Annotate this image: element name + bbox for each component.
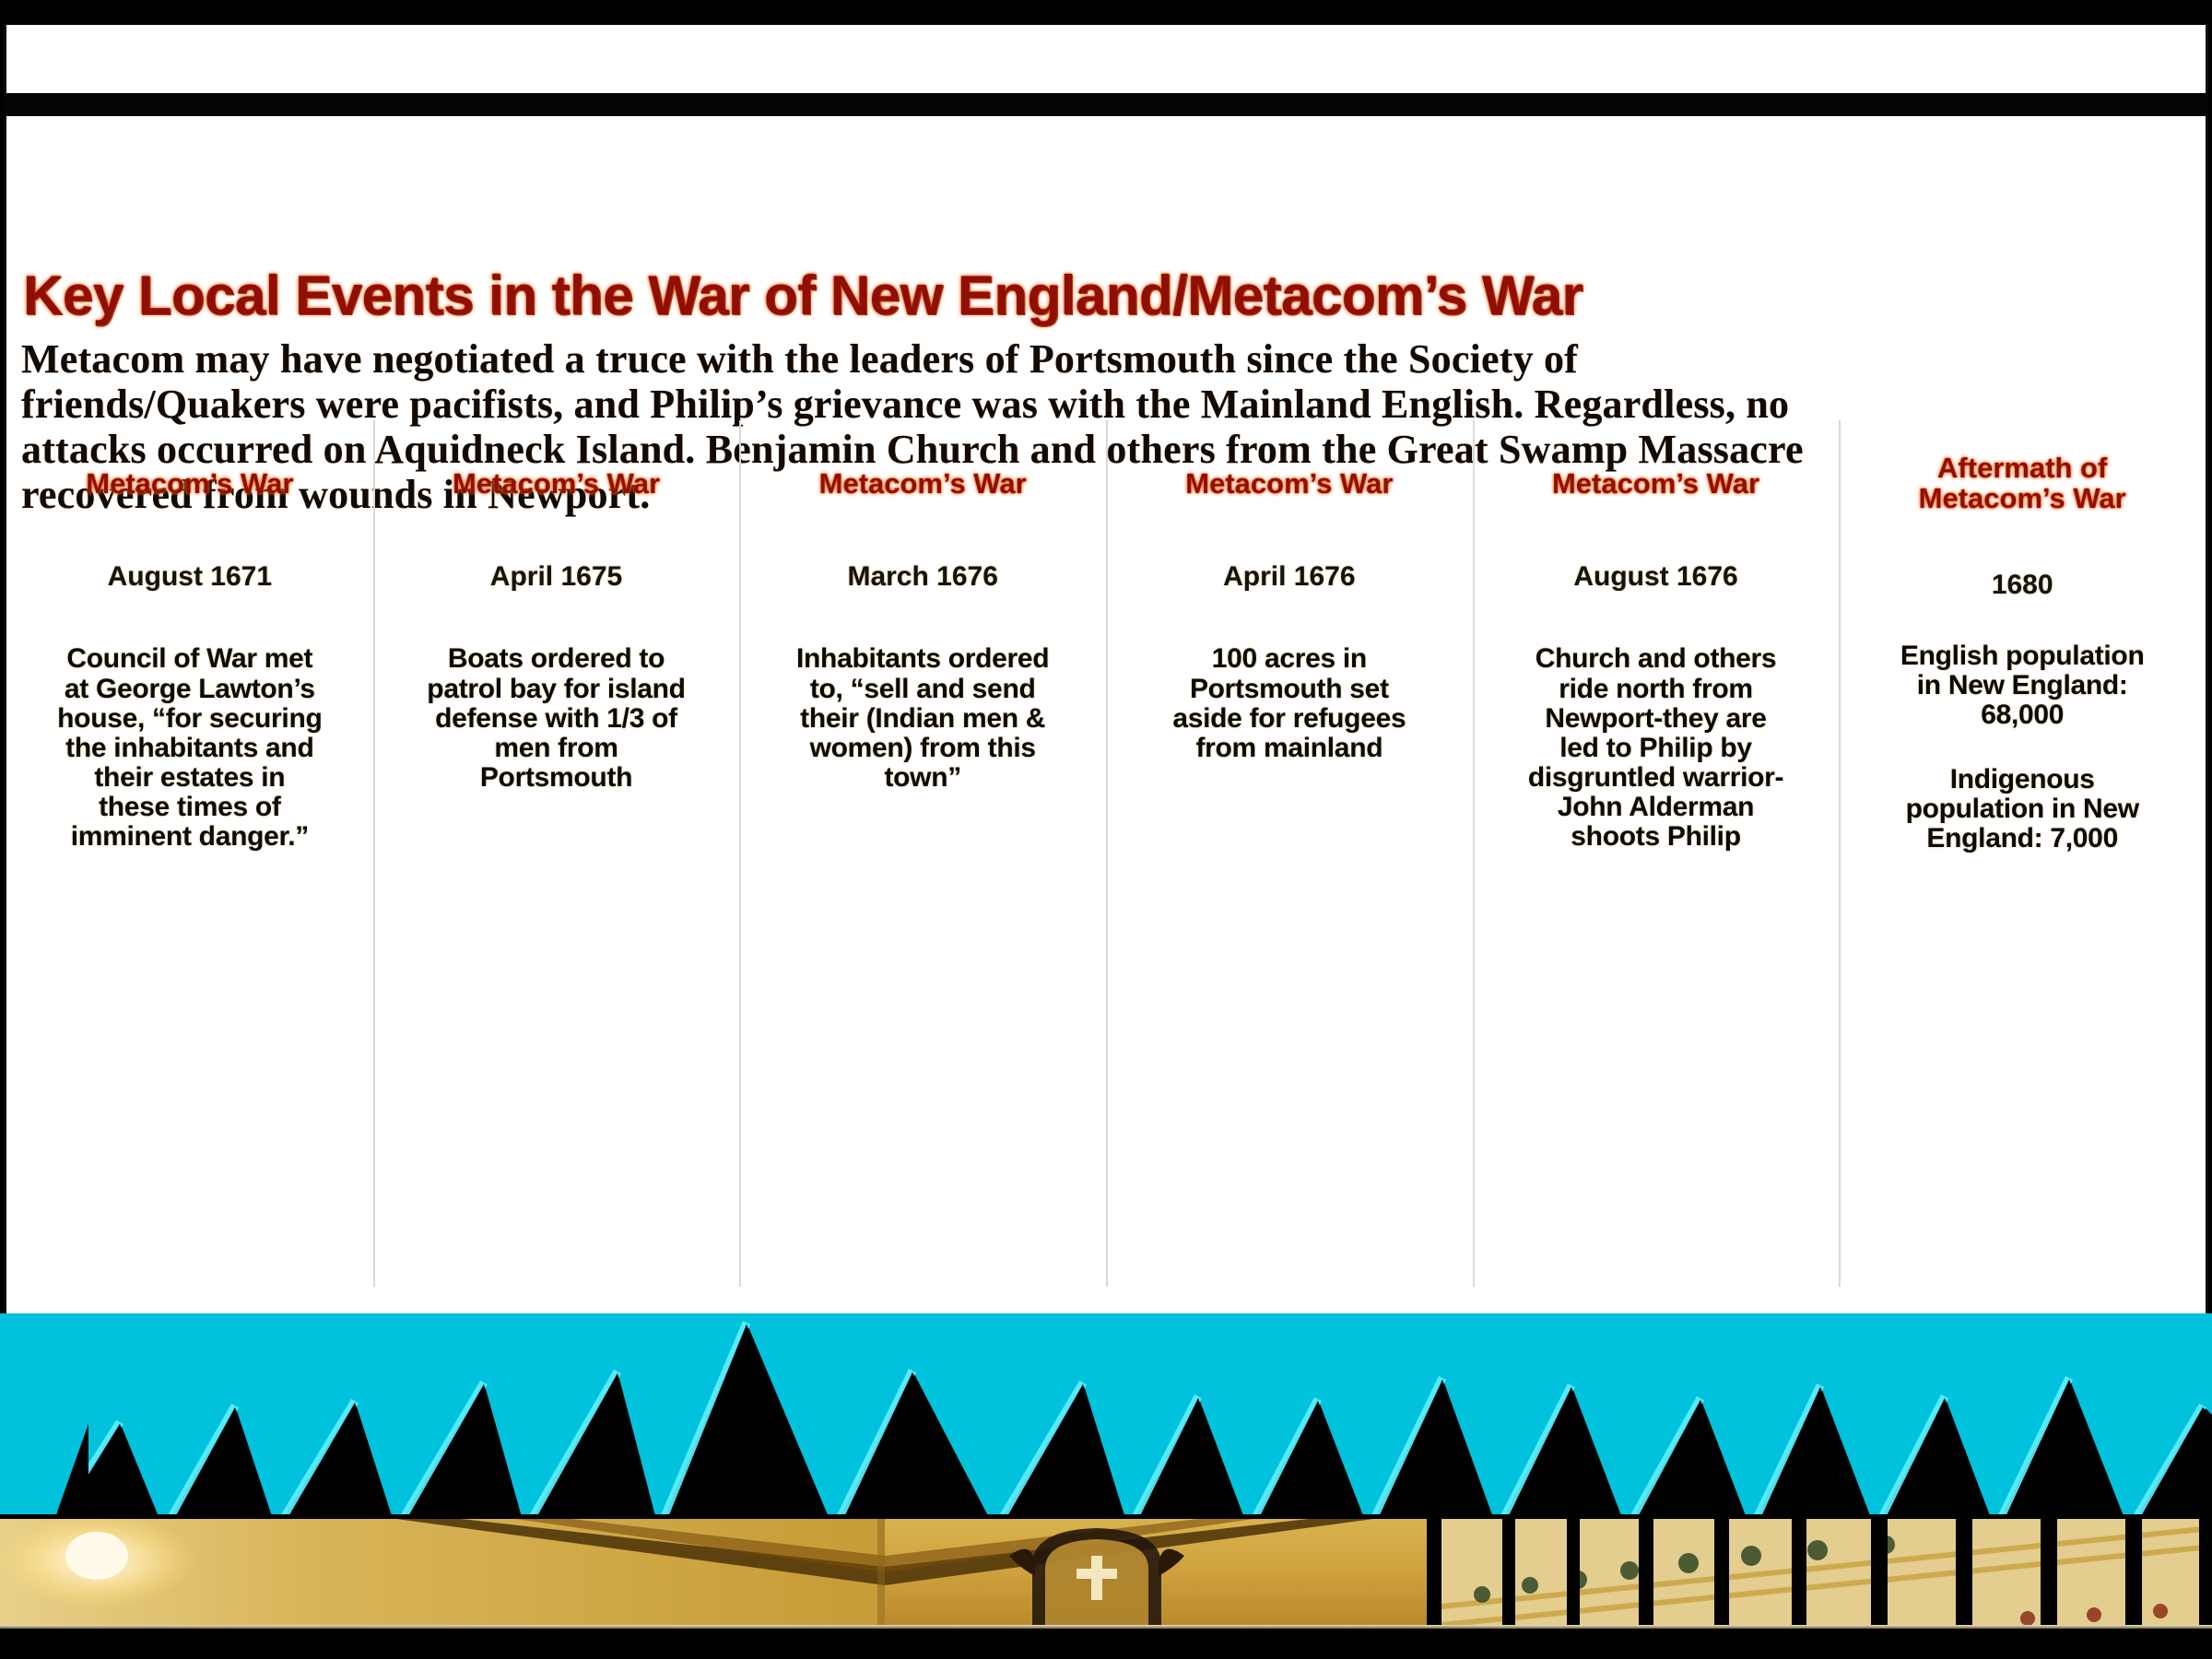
- timeline-date: August 1671: [25, 561, 355, 593]
- timeline-column-1: Metacom’s War August 1671 Council of War…: [6, 411, 373, 1287]
- timeline-heading: Metacom’s War: [392, 468, 722, 499]
- timeline-column-2: Metacom’s War April 1675 Boats ordered t…: [373, 411, 740, 1287]
- timeline-heading: Metacom’s War: [25, 468, 355, 499]
- bottom-letterbox-bar: [0, 1643, 2212, 1659]
- body-line: Metacom may have negotiated a truce with…: [21, 339, 2187, 380]
- transition-spikes-icon: [0, 1313, 2212, 1530]
- top-divider-bar: [4, 93, 2208, 116]
- timeline-description: Boats ordered to patrol bay for island d…: [392, 644, 722, 792]
- timeline-column-3: Metacom’s War March 1676 Inhabitants ord…: [739, 411, 1106, 1287]
- timeline-description-extra: Indigenous population in New England: 7,…: [1857, 765, 2187, 853]
- top-letterbox-bar: [0, 0, 2212, 25]
- presentation-slide: Key Local Events in the War of New Engla…: [0, 0, 2212, 1659]
- timeline-columns: Metacom’s War August 1671 Council of War…: [6, 411, 2206, 1287]
- timeline-description: Inhabitants ordered to, “sell and send t…: [758, 644, 1088, 792]
- background-photo-strip: [0, 1514, 2212, 1659]
- timeline-column-4: Metacom’s War April 1676 100 acres in Po…: [1106, 411, 1473, 1287]
- timeline-date: August 1676: [1491, 561, 1821, 593]
- timeline-description: Church and others ride north from Newpor…: [1491, 644, 1821, 852]
- timeline-heading: Metacom’s War: [758, 468, 1088, 499]
- top-white-band: [4, 25, 2208, 93]
- church-interior-photo: [0, 1519, 2212, 1630]
- page-title: Key Local Events in the War of New Engla…: [23, 264, 2171, 327]
- church-interior-illustration: [0, 1519, 2212, 1630]
- timeline-column-6: Aftermath of Metacom’s War 1680 English …: [1839, 411, 2206, 1287]
- timeline-heading: Metacom’s War: [1491, 468, 1821, 499]
- timeline-description: Council of War met at George Lawton’s ho…: [25, 644, 355, 852]
- timeline-date: April 1675: [392, 561, 722, 593]
- timeline-heading: Metacom’s War: [1124, 468, 1454, 499]
- timeline-date: March 1676: [758, 561, 1088, 593]
- timeline-date: 1680: [1857, 570, 2187, 601]
- timeline-heading: Aftermath of Metacom’s War: [1857, 453, 2187, 514]
- timeline-description: English population in New England: 68,00…: [1857, 641, 2187, 730]
- slide-canvas: Key Local Events in the War of New Engla…: [4, 116, 2208, 1331]
- transition-wipe-band: [0, 1313, 2212, 1530]
- timeline-date: April 1676: [1124, 561, 1454, 593]
- timeline-description: 100 acres in Portsmouth set aside for re…: [1124, 644, 1454, 762]
- timeline-column-5: Metacom’s War August 1676 Church and oth…: [1473, 411, 1840, 1287]
